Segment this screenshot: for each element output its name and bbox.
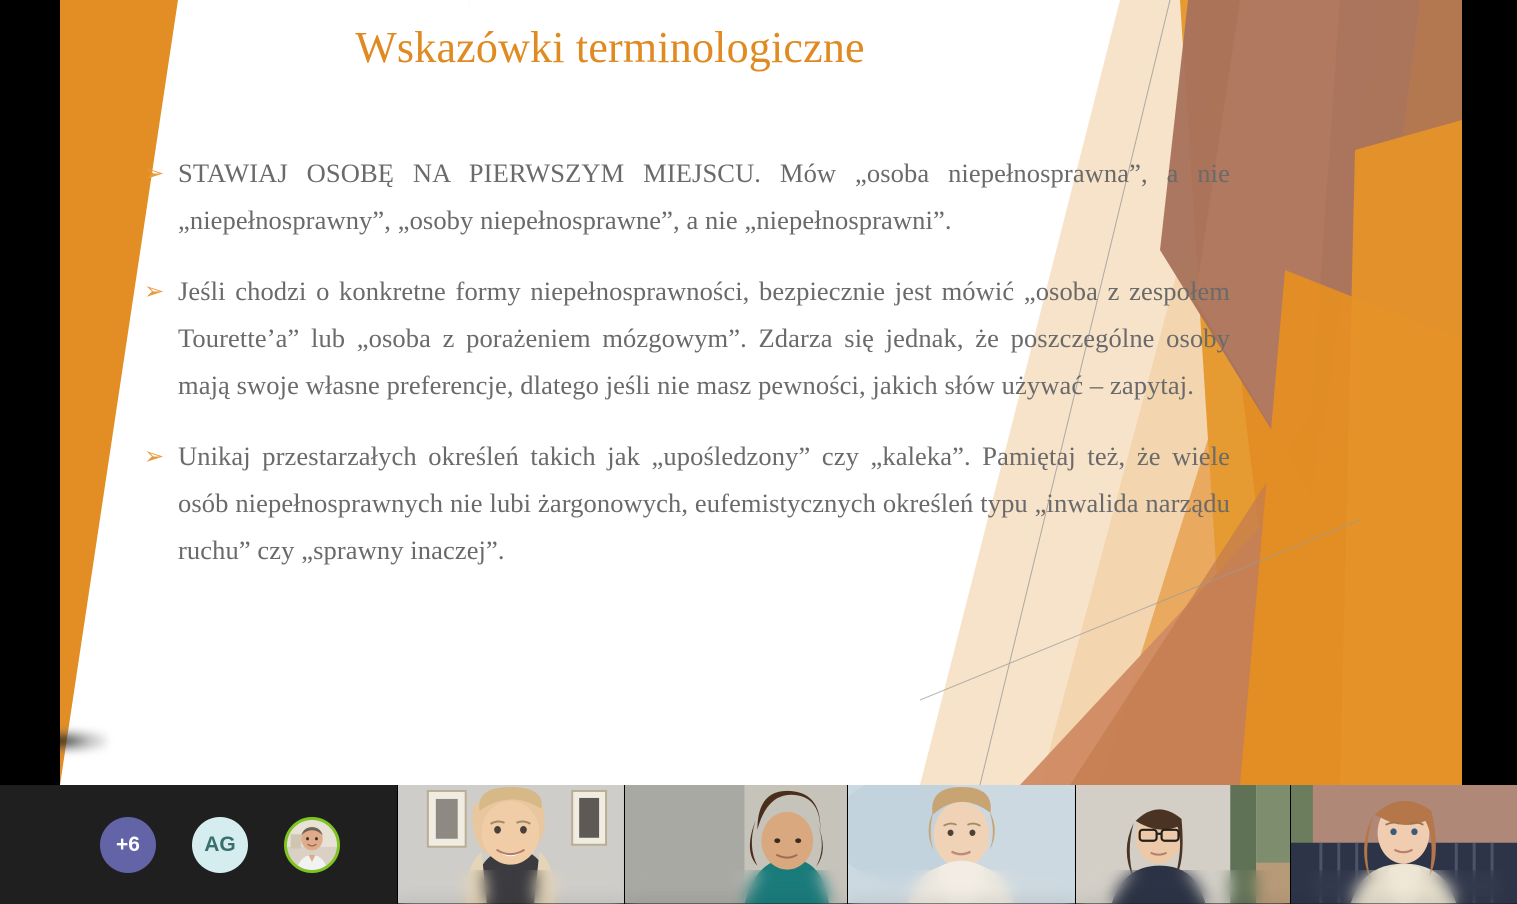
slide-canvas[interactable]: Wskazówki terminologiczne ➢ STAWIAJ OSOB… xyxy=(60,0,1462,785)
facet-orange-edge xyxy=(1340,120,1462,785)
participant-video-3[interactable] xyxy=(847,785,1075,904)
photo-avatar[interactable] xyxy=(284,817,340,873)
arrow-bullet-icon: ➢ xyxy=(140,268,178,315)
arrow-bullet-icon: ➢ xyxy=(140,150,178,197)
video-name-blur xyxy=(848,870,1075,904)
video-name-blur xyxy=(1076,870,1290,904)
bullet-item-2: ➢ Jeśli chodzi o konkretne formy niepełn… xyxy=(140,268,1230,409)
overflow-count-label: +6 xyxy=(116,833,140,857)
participant-video-1[interactable] xyxy=(397,785,624,904)
participant-roster-strip: +6 AG xyxy=(0,785,1517,904)
avatar-photo-image xyxy=(287,820,337,870)
avatar-group: +6 AG xyxy=(0,785,397,904)
video-name-blur xyxy=(625,870,847,904)
initials-avatar[interactable]: AG xyxy=(192,817,248,873)
bullet-item-1: ➢ STAWIAJ OSOBĘ NA PIERWSZYM MIEJSCU. Mó… xyxy=(140,150,1230,244)
overflow-count-avatar[interactable]: +6 xyxy=(100,817,156,873)
slide-bullet-list: ➢ STAWIAJ OSOBĘ NA PIERWSZYM MIEJSCU. Mó… xyxy=(140,150,1230,598)
bullet-text-2: Jeśli chodzi o konkretne formy niepełnos… xyxy=(178,268,1230,409)
slide-edge-control[interactable] xyxy=(60,728,108,754)
avatar-portrait-svg xyxy=(287,820,337,870)
bullet-item-3: ➢ Unikaj przestarzałych określeń takich … xyxy=(140,433,1230,574)
arrow-bullet-icon: ➢ xyxy=(140,433,178,480)
video-name-blur xyxy=(1291,870,1517,904)
slide-title: Wskazówki terminologiczne xyxy=(60,22,1160,73)
bullet-text-1: STAWIAJ OSOBĘ NA PIERWSZYM MIEJSCU. Mów … xyxy=(178,150,1230,244)
presentation-stage[interactable]: Wskazówki terminologiczne ➢ STAWIAJ OSOB… xyxy=(0,0,1517,785)
video-name-blur xyxy=(398,870,624,904)
participant-video-5[interactable] xyxy=(1290,785,1517,904)
bullet-text-3: Unikaj przestarzałych określeń takich ja… xyxy=(178,433,1230,574)
initials-avatar-label: AG xyxy=(204,833,236,857)
participant-video-2[interactable] xyxy=(624,785,847,904)
meeting-window: Wskazówki terminologiczne ➢ STAWIAJ OSOB… xyxy=(0,0,1517,904)
participant-video-4[interactable] xyxy=(1075,785,1290,904)
